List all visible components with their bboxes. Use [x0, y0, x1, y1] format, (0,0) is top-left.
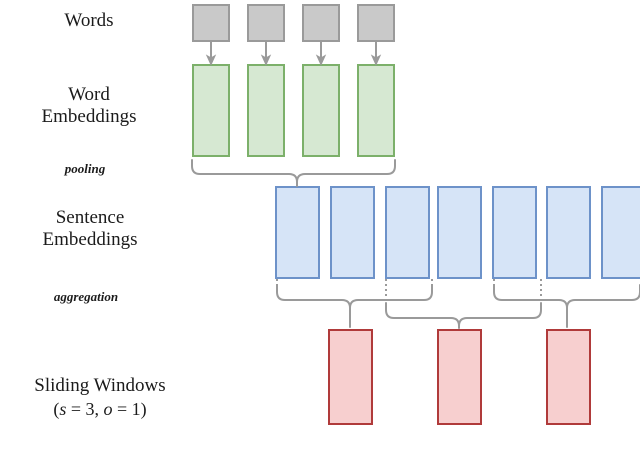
- label-window-params: (s = 3, o = 1): [0, 399, 200, 420]
- word-embedding-box: [357, 64, 395, 157]
- label-pooling: pooling: [0, 161, 170, 176]
- sentence-embedding-box: [492, 186, 537, 279]
- pooling-brace: [192, 160, 395, 186]
- sliding-window-box: [546, 329, 591, 425]
- word-box: [357, 4, 395, 42]
- sentence-embedding-box: [601, 186, 640, 279]
- label-word-embeddings: Word Embeddings: [0, 84, 178, 128]
- label-sentence-embeddings-line1: Sentence: [56, 207, 125, 228]
- aggregation-dotted-connectors: [277, 279, 541, 310]
- label-pooling-text: pooling: [65, 161, 105, 176]
- label-words-text: Words: [64, 10, 113, 31]
- label-aggregation-text: aggregation: [54, 289, 118, 304]
- sentence-embedding-box: [385, 186, 430, 279]
- label-sentence-embeddings: Sentence Embeddings: [0, 207, 180, 251]
- aggregation-brace-1-path: [277, 285, 432, 308]
- sentence-embedding-box: [330, 186, 375, 279]
- aggregation-brace-3-path: [494, 285, 640, 308]
- params-s-value: = 3,: [66, 399, 103, 419]
- word-to-embedding-arrows: [211, 42, 376, 60]
- diagram-canvas: Words Word Embeddings pooling Sentence E…: [0, 0, 640, 457]
- aggregation-brace-3: [494, 285, 640, 327]
- sentence-embedding-box: [437, 186, 482, 279]
- word-embedding-box: [192, 64, 230, 157]
- params-o-variable: o: [104, 399, 113, 419]
- aggregation-brace-2: [386, 303, 541, 328]
- word-box: [192, 4, 230, 42]
- label-aggregation: aggregation: [0, 289, 172, 304]
- word-embedding-box: [247, 64, 285, 157]
- sliding-window-box: [328, 329, 373, 425]
- aggregation-brace-1: [277, 285, 432, 327]
- label-words: Words: [0, 10, 178, 32]
- word-embedding-box: [302, 64, 340, 157]
- sentence-embedding-box: [275, 186, 320, 279]
- label-sliding-windows: Sliding Windows: [0, 375, 200, 397]
- sliding-window-box: [437, 329, 482, 425]
- word-box: [247, 4, 285, 42]
- label-sentence-embeddings-line2: Embeddings: [43, 229, 138, 250]
- label-sliding-windows-text: Sliding Windows: [34, 375, 165, 396]
- sentence-embedding-box: [546, 186, 591, 279]
- pooling-brace-path: [192, 160, 395, 182]
- aggregation-brace-2-path: [386, 303, 541, 326]
- params-close-paren: ): [141, 399, 147, 419]
- word-box: [302, 4, 340, 42]
- label-word-embeddings-line2: Embeddings: [42, 106, 137, 127]
- label-word-embeddings-line1: Word: [68, 84, 110, 105]
- params-o-value: = 1: [113, 399, 141, 419]
